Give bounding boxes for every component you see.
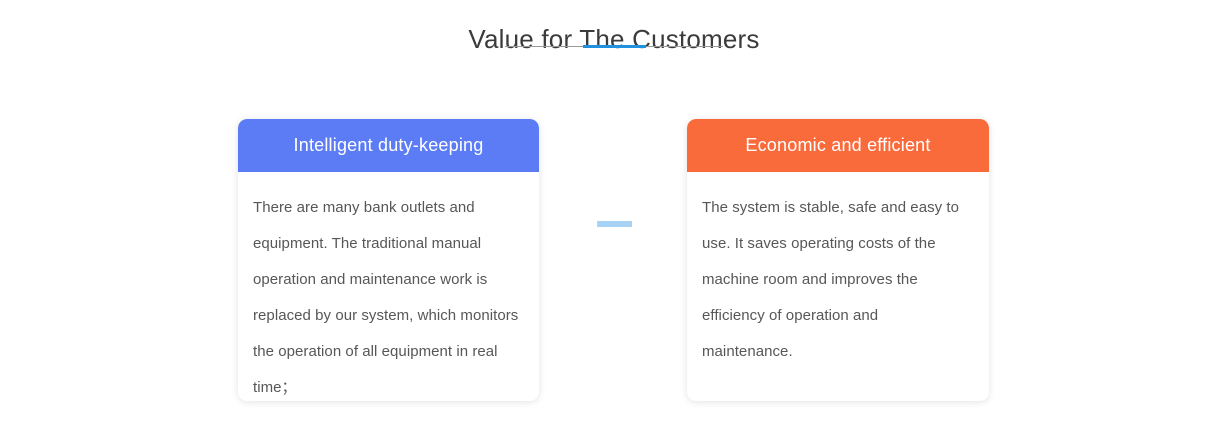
- title-underline: [505, 45, 723, 48]
- section-heading: Value for The Customers: [0, 22, 1228, 56]
- card-header-intelligent-duty-keeping: Intelligent duty-keeping: [238, 119, 539, 172]
- card-economic-and-efficient[interactable]: Economic and efficient The system is sta…: [687, 119, 989, 401]
- title-underline-accent: [583, 45, 646, 48]
- card-body-economic-and-efficient: The system is stable, safe and easy to u…: [687, 172, 989, 370]
- card-body-intelligent-duty-keeping: There are many bank outlets and equipmen…: [238, 172, 539, 401]
- card-body-text: There are many bank outlets and equipmen…: [253, 190, 523, 401]
- card-intelligent-duty-keeping[interactable]: Intelligent duty-keeping There are many …: [238, 119, 539, 401]
- card-body-text: The system is stable, safe and easy to u…: [702, 190, 973, 370]
- card-connector-bar: [597, 221, 632, 227]
- card-header-economic-and-efficient: Economic and efficient: [687, 119, 989, 172]
- page-title: Value for The Customers: [0, 22, 1228, 56]
